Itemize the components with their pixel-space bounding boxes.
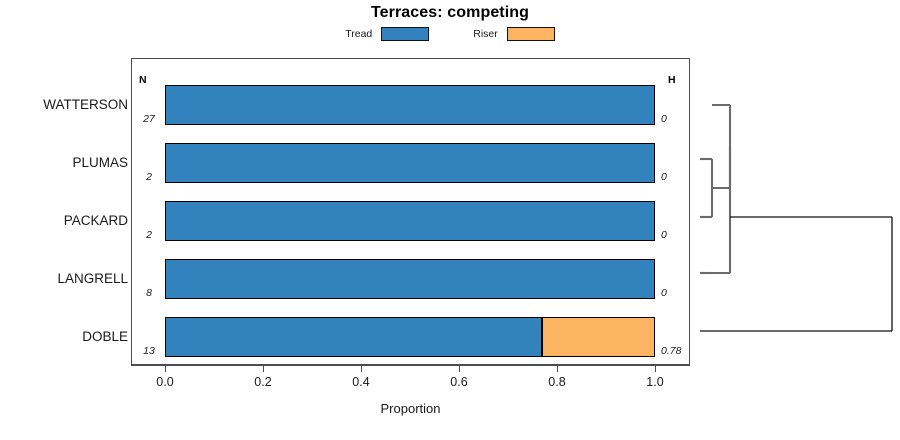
bar-segment-tread[interactable] — [165, 259, 655, 299]
n-value: 2 — [137, 229, 161, 241]
bar-row — [165, 143, 655, 183]
n-column-header: N — [139, 74, 147, 86]
n-value: 27 — [137, 113, 161, 125]
row-label: LANGRELL — [0, 272, 128, 286]
legend: Tread Riser — [0, 27, 900, 41]
x-axis-tick-label: 0.8 — [537, 375, 577, 389]
x-axis-tick — [165, 365, 166, 372]
x-axis-tick-label: 0.6 — [439, 375, 479, 389]
bar-row — [165, 201, 655, 241]
x-axis-tick — [655, 365, 656, 372]
x-axis-tick-label: 0.2 — [243, 375, 283, 389]
bar-row — [165, 85, 655, 125]
h-column-header: H — [668, 74, 676, 86]
x-axis-line — [131, 365, 690, 366]
legend-entry-tread: Tread — [345, 27, 429, 41]
row-label: WATTERSON — [0, 98, 128, 112]
x-axis-tick — [361, 365, 362, 372]
row-label: PACKARD — [0, 214, 128, 228]
chart-root: Terraces: competing Tread Riser N H WATT… — [0, 0, 900, 440]
x-axis-title: Proportion — [131, 401, 690, 416]
x-axis-tick-label: 0.0 — [145, 375, 185, 389]
n-value: 13 — [137, 345, 161, 357]
legend-label-riser: Riser — [473, 28, 498, 40]
bar-segment-riser[interactable] — [542, 317, 655, 357]
legend-entry-riser: Riser — [473, 27, 555, 41]
legend-swatch-tread — [381, 27, 429, 41]
chart-title: Terraces: competing — [0, 4, 900, 22]
n-value: 8 — [137, 287, 161, 299]
x-axis-tick-label: 1.0 — [635, 375, 675, 389]
bar-segment-tread[interactable] — [165, 143, 655, 183]
x-axis-tick — [557, 365, 558, 372]
legend-swatch-riser — [507, 27, 555, 41]
x-axis-tick-label: 0.4 — [341, 375, 381, 389]
legend-label-tread: Tread — [345, 28, 372, 40]
n-value: 2 — [137, 171, 161, 183]
x-axis-tick — [263, 365, 264, 372]
bar-row — [165, 317, 655, 357]
x-axis-tick — [459, 365, 460, 372]
bar-segment-tread[interactable] — [165, 317, 542, 357]
row-label: DOBLE — [0, 330, 128, 344]
bar-segment-tread[interactable] — [165, 85, 655, 125]
row-label: PLUMAS — [0, 156, 128, 170]
dendrogram — [690, 58, 900, 365]
bar-row — [165, 259, 655, 299]
bar-segment-tread[interactable] — [165, 201, 655, 241]
